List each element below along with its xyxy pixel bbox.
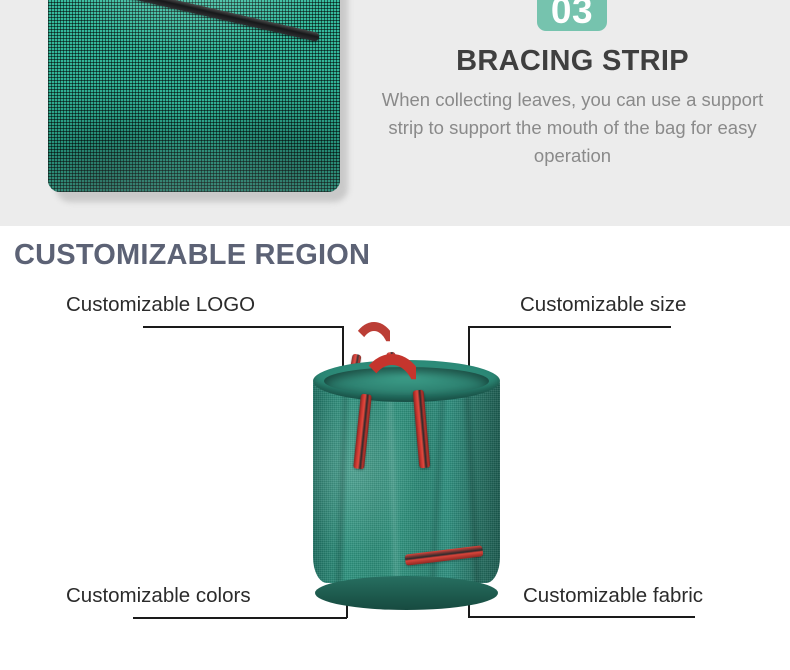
garden-bag-product-image	[313, 360, 500, 597]
callout-leader-line-colors	[133, 617, 347, 619]
bracing-strip-photo	[48, 0, 340, 192]
product-infographic-page: 03 BRACING STRIP When collecting leaves,…	[0, 0, 790, 670]
callout-leader-line-size	[468, 326, 671, 328]
callout-label-fabric: Customizable fabric	[523, 584, 703, 608]
callout-label-logo: Customizable LOGO	[66, 293, 255, 317]
bracing-strip-section: 03 BRACING STRIP When collecting leaves,…	[0, 0, 790, 226]
callout-label-colors: Customizable colors	[66, 584, 251, 608]
bag-bottom	[315, 576, 498, 610]
section-title: BRACING STRIP	[390, 45, 755, 78]
section-description: When collecting leaves, you can use a su…	[380, 86, 765, 170]
step-number-badge: 03	[537, 0, 607, 31]
bag-body	[313, 378, 500, 583]
page-title: CUSTOMIZABLE REGION	[14, 239, 370, 272]
photo-frame	[48, 0, 340, 192]
callout-label-size: Customizable size	[520, 293, 686, 317]
callout-leader-line-fabric	[468, 616, 695, 618]
callout-leader-line-logo	[143, 326, 344, 328]
